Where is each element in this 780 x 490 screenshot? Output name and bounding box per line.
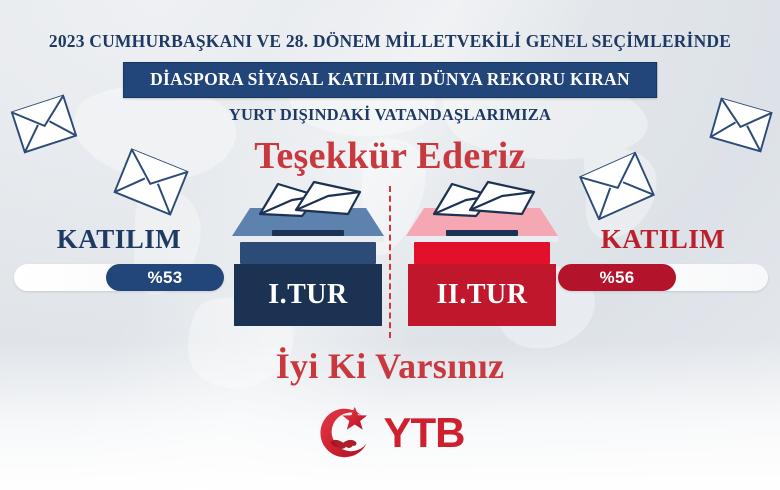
ballot-rim-round-2 — [414, 242, 550, 264]
ytb-logo: YTB — [0, 403, 780, 465]
turnout-stat-round-1: KATILIM %53 — [14, 226, 224, 291]
ballot-body-round-2: II.TUR — [408, 264, 556, 326]
ballot-label-round-2: II.TUR — [437, 279, 528, 311]
ballot-label-round-1: I.TUR — [268, 279, 348, 311]
ballot-envelopes-round-1 — [256, 180, 368, 220]
headline-banner: DİASPORA SİYASAL KATILIMI DÜNYA REKORU K… — [123, 62, 657, 98]
headline-line-1: 2023 CUMHURBAŞKANI VE 28. DÖNEM MİLLETVE… — [0, 31, 780, 52]
headline-banner-label: DİASPORA SİYASAL KATILIMI DÜNYA REKORU K… — [150, 69, 630, 89]
turnout-value-round-1: %53 — [106, 264, 224, 291]
turnout-label-round-1: KATILIM — [14, 226, 224, 253]
turnout-track-round-2: %56 — [558, 264, 768, 291]
round-divider — [389, 186, 391, 338]
headline-line-3: YURT DIŞINDAKİ VATANDAŞLARIMIZA — [0, 105, 780, 125]
ballot-box-round-2: II.TUR — [406, 196, 558, 326]
ballot-body-round-1: I.TUR — [234, 264, 382, 326]
infographic-poster: 2023 CUMHURBAŞKANI VE 28. DÖNEM MİLLETVE… — [0, 0, 780, 490]
turnout-label-round-2: KATILIM — [558, 226, 768, 253]
ballot-lid-round-1 — [232, 196, 384, 242]
ballot-rim-round-1 — [240, 242, 376, 264]
ballot-lid-round-2 — [406, 196, 558, 242]
slogan-heading: İyi Ki Varsınız — [0, 345, 780, 387]
thanks-heading: Teşekkür Ederiz — [0, 134, 780, 178]
turnout-track-round-1: %53 — [14, 264, 224, 291]
turnout-value-round-2: %56 — [558, 264, 676, 291]
ballot-box-round-1: I.TUR — [232, 196, 384, 326]
turnout-stat-round-2: KATILIM %56 — [558, 226, 768, 291]
ballot-envelopes-round-2 — [430, 180, 542, 220]
ytb-wordmark: YTB — [384, 412, 465, 454]
crescent-star-handshake-icon — [316, 403, 378, 465]
